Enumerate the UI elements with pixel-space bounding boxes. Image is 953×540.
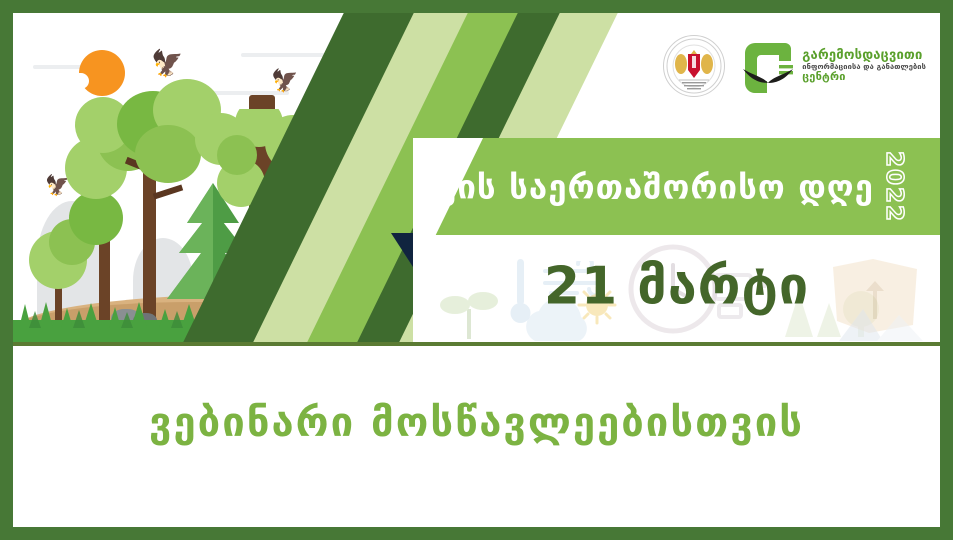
logo-group: გარემოსდაცვითი ინფორმაციისა და განათლები… <box>663 35 926 97</box>
event-year: 2022 <box>881 150 907 222</box>
event-title: ტყის საერთაშორისო დღე <box>414 167 874 206</box>
sun-icon <box>79 50 125 96</box>
bird-icon: 🦅 <box>271 71 298 93</box>
sun-notch <box>71 73 89 89</box>
bottom-section: ვებინარი მოსწავლეებისთვის <box>13 346 940 527</box>
poster-canvas: 🦅 🦅 🦅 🦅 🦅 <box>13 13 940 527</box>
top-banner-region: 🦅 🦅 🦅 🦅 🦅 <box>13 13 940 342</box>
eiec-logo: გარემოსდაცვითი ინფორმაციისა და განათლები… <box>741 39 926 93</box>
event-date: 21 მარტი <box>544 256 809 316</box>
georgia-government-seal-icon <box>663 35 725 97</box>
eiec-mark-icon <box>741 39 795 93</box>
mountain-icon <box>837 303 933 341</box>
eiec-line-1: გარემოსდაცვითი <box>802 49 926 63</box>
tree-canopy <box>69 191 123 245</box>
plant-sprout-icon <box>429 283 509 339</box>
webinar-headline: ვებინარი მოსწავლეებისთვის <box>149 400 804 446</box>
title-banner: ტყის საერთაშორისო დღე 2022 <box>413 138 940 235</box>
eiec-text-block: გარემოსდაცვითი ინფორმაციისა და განათლები… <box>802 49 926 82</box>
poster-root: 🦅 🦅 🦅 🦅 🦅 <box>0 0 953 540</box>
eiec-line-3: ცენტრი <box>802 71 926 83</box>
bird-icon: 🦅 <box>151 51 183 77</box>
date-row: 21 მარტი <box>413 235 940 342</box>
